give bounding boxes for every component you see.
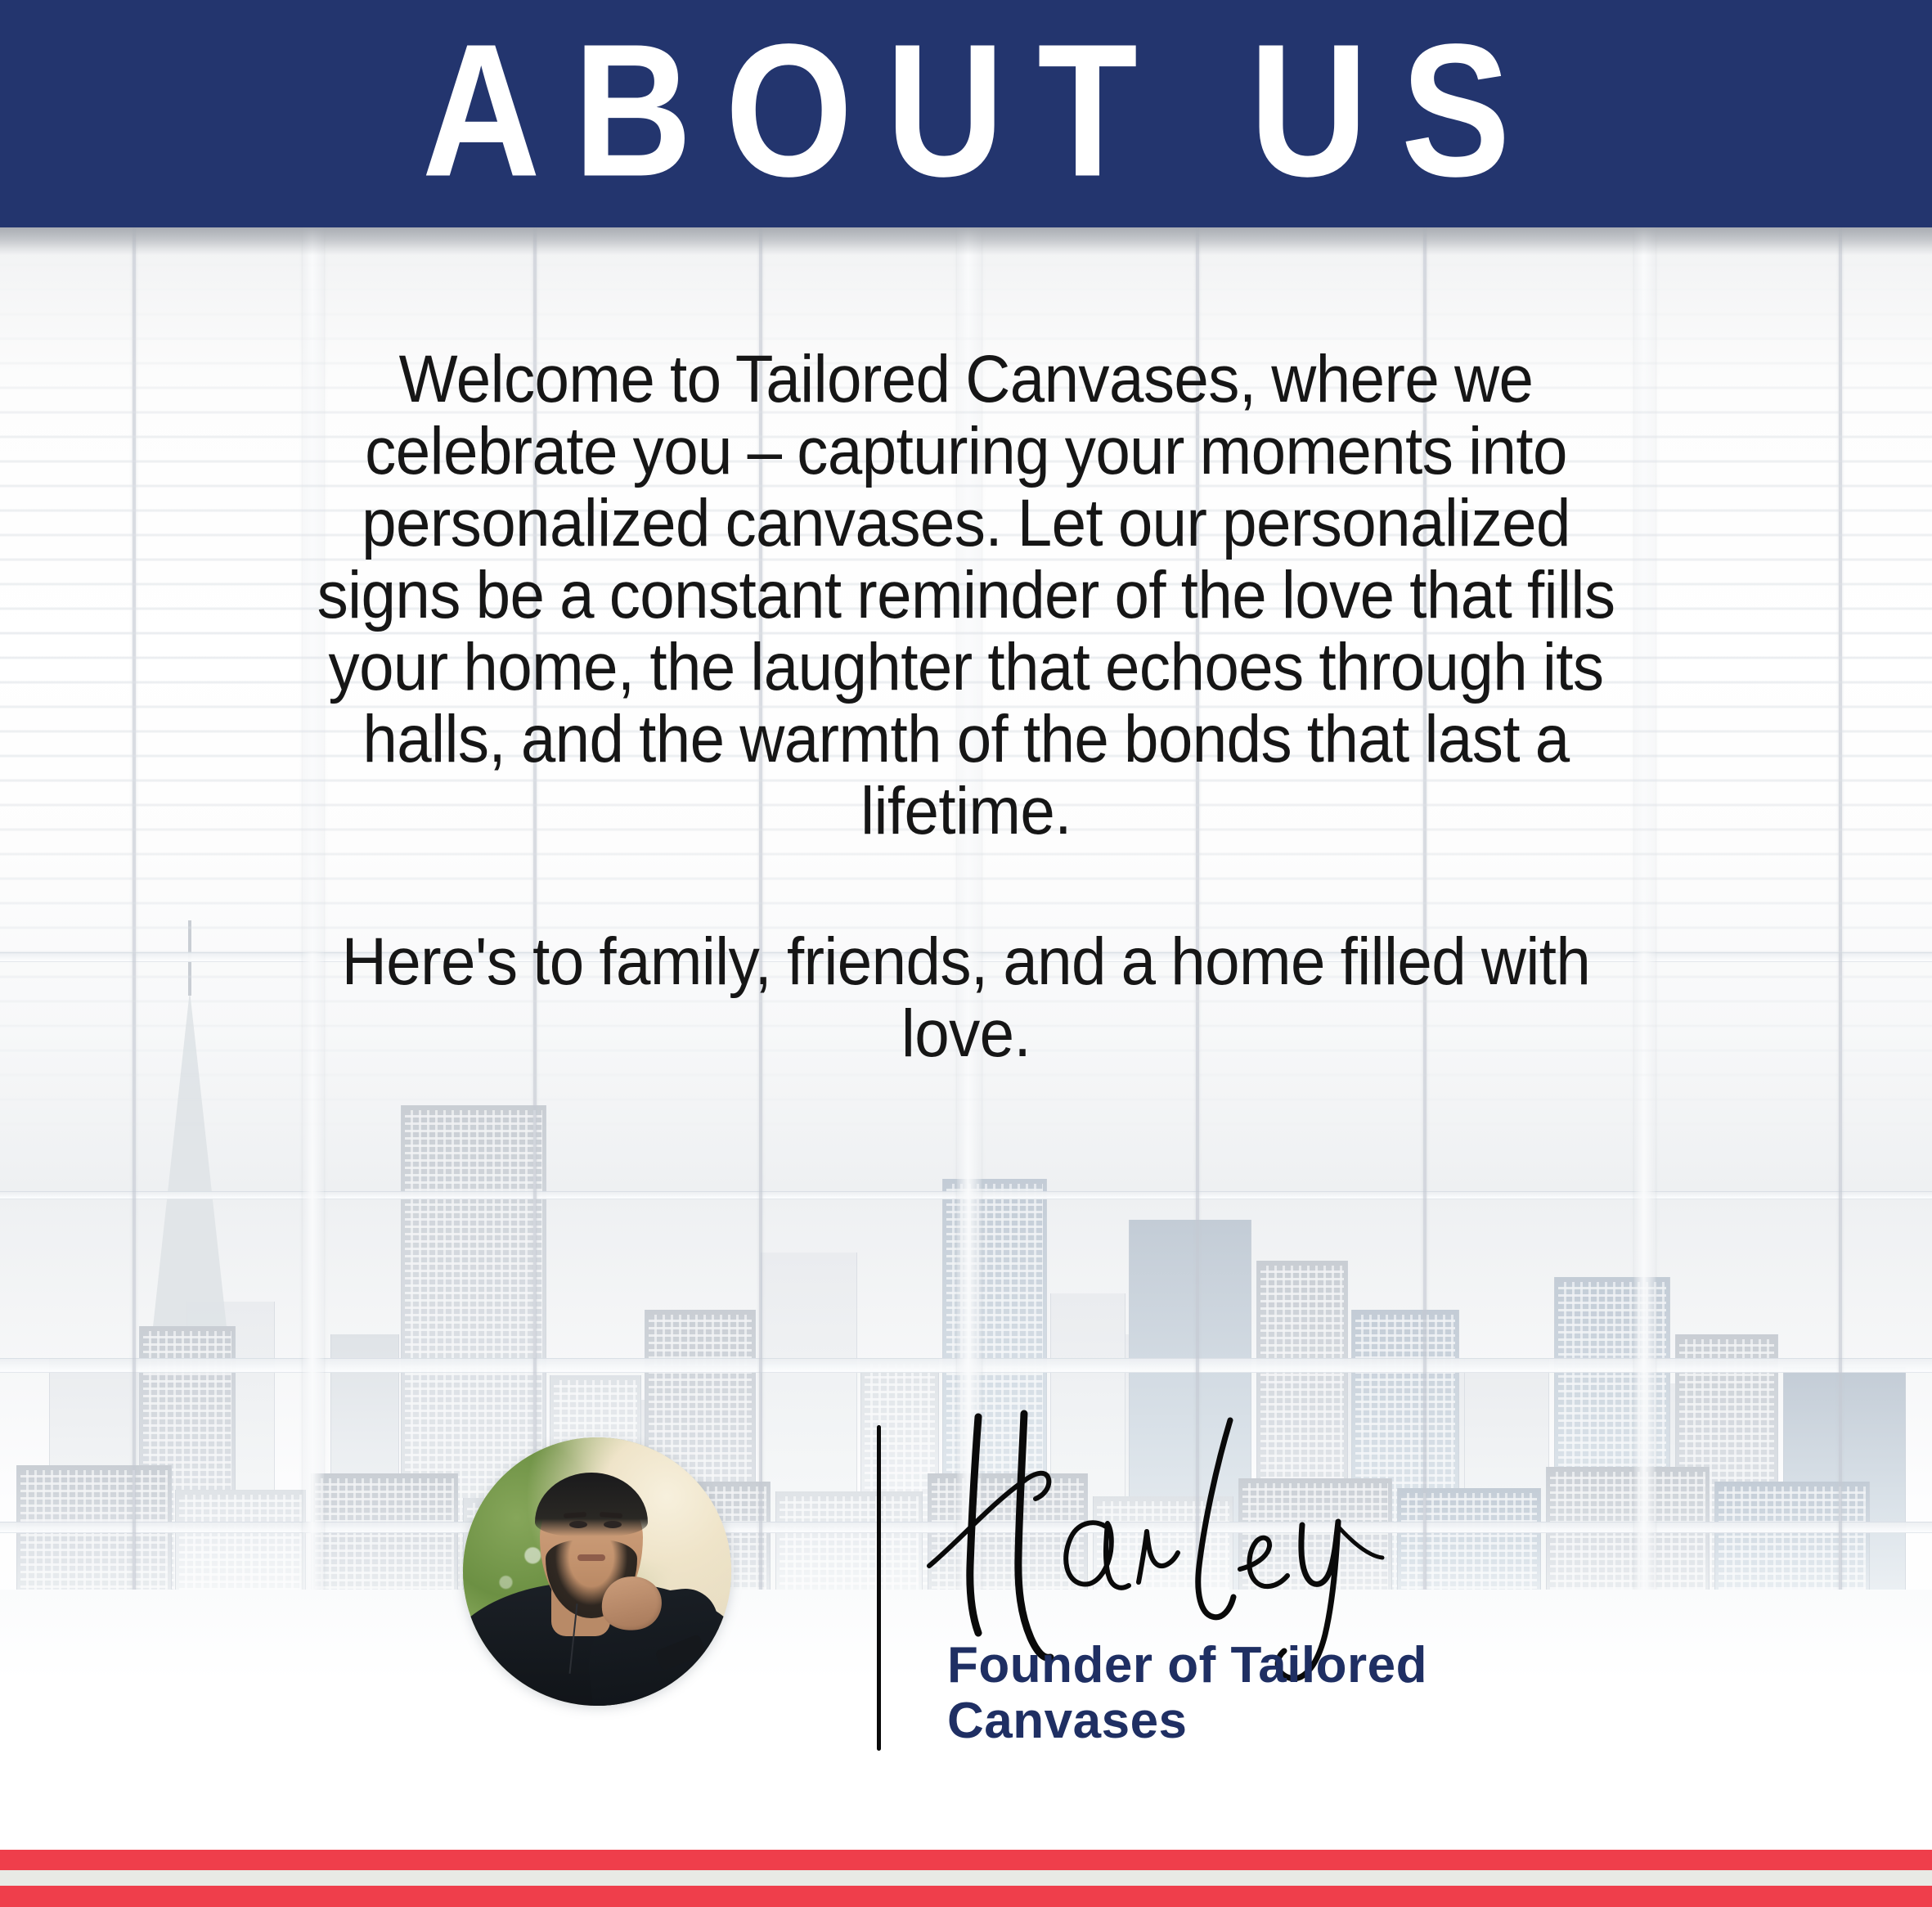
footer-stripe-bottom (0, 1886, 1932, 1907)
about-paragraph-2: Here's to family, friends, and a home fi… (297, 926, 1636, 1070)
paragraph-spacer (246, 848, 1686, 926)
about-paragraph-1: Welcome to Tailored Canvases, where we c… (297, 344, 1636, 848)
page-title: ABOUT US (389, 16, 1543, 205)
founder-title: Founder of Tailored Canvases (947, 1638, 1569, 1749)
header-drop-shadow (0, 227, 1932, 255)
footer-stripe-top (0, 1850, 1932, 1870)
about-us-copy: Welcome to Tailored Canvases, where we c… (246, 344, 1686, 1070)
founder-avatar (463, 1437, 731, 1706)
signature-divider (877, 1425, 881, 1751)
about-us-poster: ABOUT US Welcome to Tailored Canvases, w… (0, 0, 1932, 1907)
founder-title-line-2: Canvases (947, 1693, 1569, 1749)
founder-title-line-1: Founder of Tailored (947, 1638, 1569, 1693)
header-banner: ABOUT US (0, 0, 1932, 227)
portrait-eye-left (569, 1521, 587, 1528)
portrait-eye-right (604, 1521, 622, 1528)
footer-stripe-gap (0, 1870, 1932, 1886)
portrait-lips (577, 1554, 605, 1561)
